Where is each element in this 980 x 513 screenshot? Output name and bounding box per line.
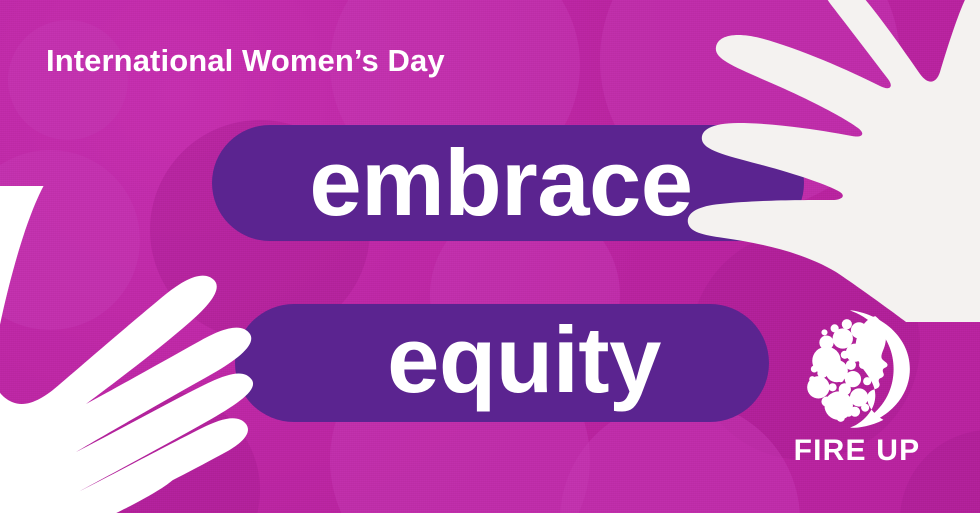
word-pill-equity: equity: [235, 304, 769, 422]
logo-wordmark: FIRE UP: [792, 434, 922, 468]
iwd-campaign-banner: International Women’s Day embrace equity: [0, 0, 980, 513]
page-title: International Women’s Day: [46, 43, 445, 79]
word-pill-embrace: embrace: [212, 125, 804, 241]
fire-up-logo[interactable]: FIRE UP: [792, 308, 922, 468]
campaign-word-equity: equity: [235, 313, 769, 413]
campaign-word-embrace: embrace: [212, 136, 804, 230]
woman-profile-bubbles-icon: [796, 308, 918, 430]
